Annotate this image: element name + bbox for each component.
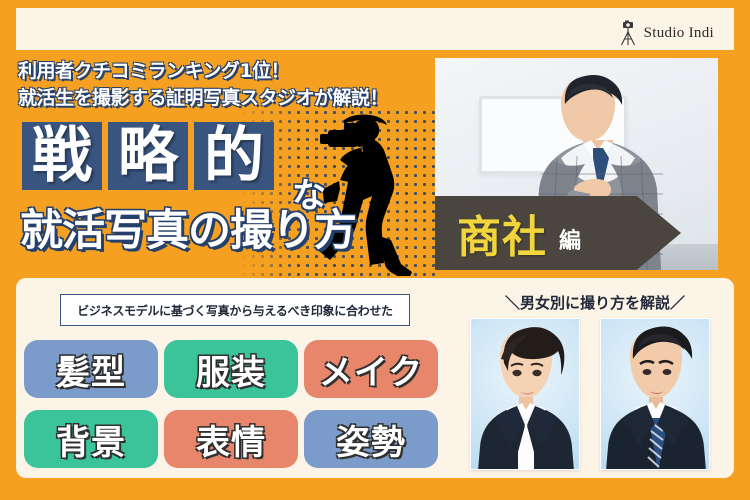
top-strip: Studio Indi xyxy=(16,8,734,50)
topic-pill-label: 表情 xyxy=(196,415,266,464)
category-sub-label: 編 xyxy=(559,223,581,255)
category-main-label: 商社 xyxy=(457,201,547,265)
bottom-orange-edge xyxy=(0,478,750,500)
camera-tripod-icon xyxy=(618,20,638,46)
male-portrait-figure xyxy=(601,319,710,470)
topic-pill[interactable]: 表情 xyxy=(164,410,298,468)
female-id-photo xyxy=(470,318,580,470)
topic-pill-label: 服装 xyxy=(196,345,266,394)
brand-logo: Studio Indi xyxy=(618,20,714,46)
topic-pill[interactable]: 姿勢 xyxy=(304,410,438,468)
topic-pill[interactable]: メイク xyxy=(304,340,438,398)
female-portrait-figure xyxy=(471,319,580,470)
caption-box: ビジネスモデルに基づく写真から与えるべき印象に合わせた xyxy=(60,294,410,326)
id-photo-pair xyxy=(470,318,710,470)
topic-pill-label: メイク xyxy=(319,345,423,394)
topic-pill-grid: 髪型 服装 メイク 背景 表情 姿勢 xyxy=(24,340,438,468)
kanji-box: 戦 xyxy=(22,122,102,190)
topic-pill[interactable]: 背景 xyxy=(24,410,158,468)
kanji-box-char: 的 xyxy=(204,126,264,186)
kicker-copy: 利用者クチコミランキング1位！ 就活生を撮影する証明写真スタジオが解説！ xyxy=(18,58,388,112)
kanji-box: 的 xyxy=(194,122,274,190)
topic-pill-label: 姿勢 xyxy=(336,415,406,464)
kanji-box: 略 xyxy=(108,122,188,190)
kanji-box-char: 戦 xyxy=(32,126,92,186)
kicker-line-1: 利用者クチコミランキング1位！ xyxy=(18,58,388,85)
gender-caption: ＼男女別に撮り方を解説／ xyxy=(470,292,720,313)
topic-pill[interactable]: 髪型 xyxy=(24,340,158,398)
brand-logo-text: Studio Indi xyxy=(644,25,714,42)
category-arrow-banner: 商社 編 xyxy=(435,196,681,270)
topic-pill-label: 背景 xyxy=(56,415,126,464)
caption-text: ビジネスモデルに基づく写真から与えるべき印象に合わせた xyxy=(77,302,393,319)
topic-pill[interactable]: 服装 xyxy=(164,340,298,398)
male-id-photo xyxy=(600,318,710,470)
kanji-box-row: 戦 略 的 xyxy=(22,122,274,190)
promo-banner: Studio Indi 利用者クチコミランキング1位！ 就活生を撮影する証明写真… xyxy=(0,0,750,500)
main-headline: 就活写真の撮り方 xyxy=(20,206,356,256)
topic-pill-label: 髪型 xyxy=(56,345,126,394)
kanji-box-char: 略 xyxy=(118,126,178,186)
